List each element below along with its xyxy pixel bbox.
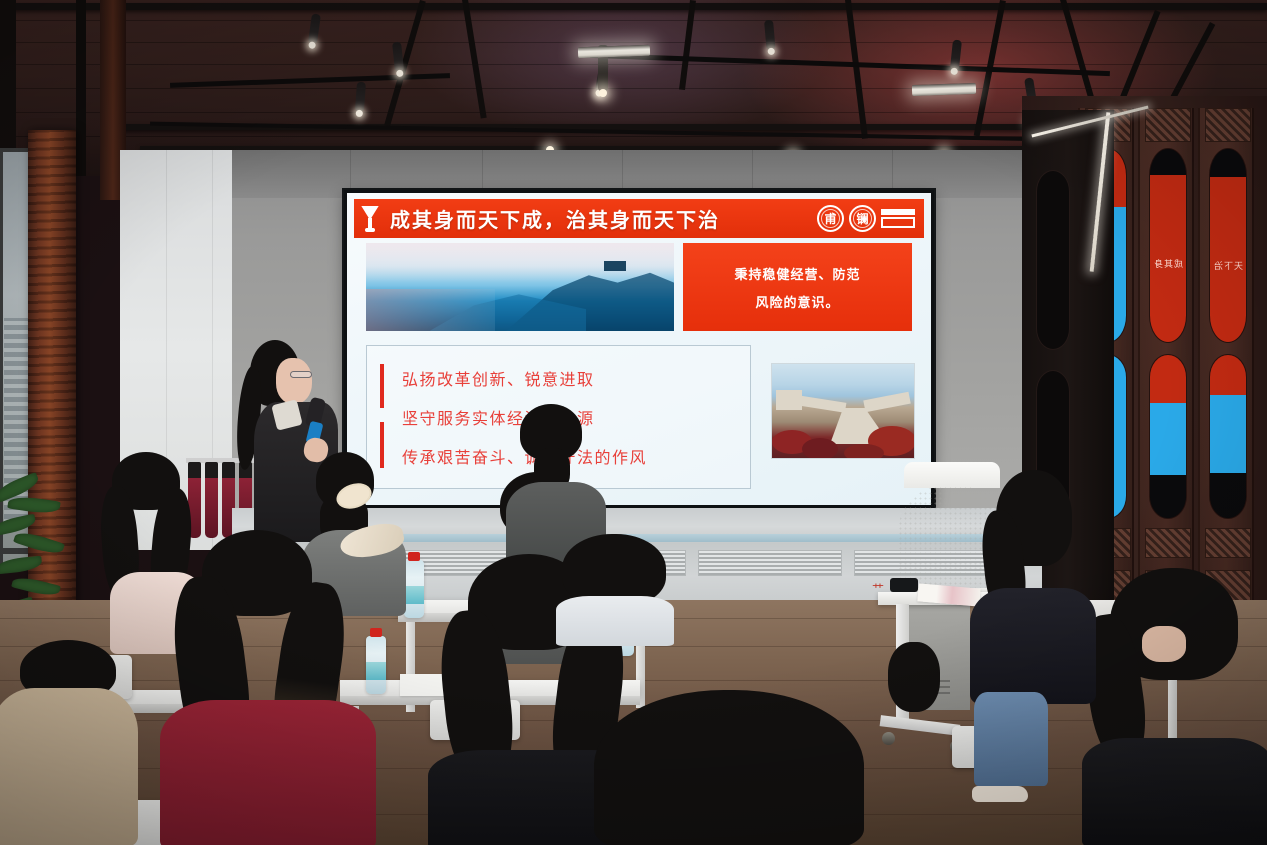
ceiling-spotlight <box>355 82 366 113</box>
funnel-icon <box>361 206 379 232</box>
wordmark-logo <box>881 208 915 230</box>
photo-scene: 成其身 天下治 <box>0 0 1267 845</box>
great-wall-blue-photo <box>366 243 674 331</box>
seal-logo-left: 甫 <box>817 205 844 232</box>
audience-member <box>0 640 140 845</box>
callout-box: 秉持稳健经营、防范 风险的意识。 <box>683 243 912 331</box>
callout-line-2: 风险的意识。 <box>755 292 839 311</box>
presentation-display[interactable]: 成其身而天下成，治其身而天下治 甫 镧 <box>344 190 934 508</box>
callout-line-1: 秉持稳健经营、防范 <box>734 264 860 283</box>
slide-title-bar: 成其身而天下成，治其身而天下治 甫 镧 <box>354 199 924 238</box>
smartphone[interactable] <box>890 578 918 592</box>
linear-tube-light <box>912 83 976 96</box>
seal-logo-right: 镧 <box>849 205 876 232</box>
audience-member <box>556 534 676 644</box>
reflected-slide-text: 天下治 <box>1210 259 1246 272</box>
logo-group: 甫 镧 <box>817 205 924 232</box>
ceiling-spotlight <box>308 13 321 44</box>
audience-member <box>150 530 390 845</box>
reflected-slide-text: 成其身 <box>1150 257 1186 270</box>
audience-member <box>880 600 1000 845</box>
slide-content: 成其身而天下成，治其身而天下治 甫 镧 <box>347 193 931 505</box>
great-wall-autumn-photo <box>771 363 915 459</box>
audience-member <box>1088 568 1267 845</box>
screen-door: 天下治 <box>1198 108 1254 648</box>
bullet-line: 弘扬改革创新、锐意进取 <box>402 366 750 390</box>
screen-door: 成其身 <box>1138 108 1194 648</box>
ceiling-spotlight <box>764 20 776 51</box>
ceiling-spotlight <box>392 42 404 73</box>
audience-member <box>594 690 884 845</box>
slide-title: 成其身而天下成，治其身而天下治 <box>390 204 720 233</box>
